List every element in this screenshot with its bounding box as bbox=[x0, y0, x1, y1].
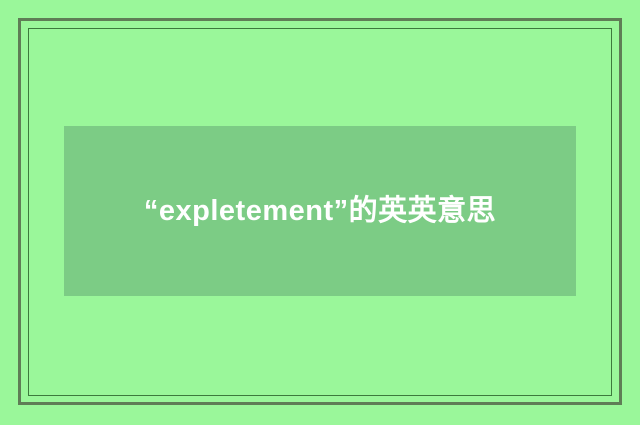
page-canvas: “expletement”的英英意思 bbox=[0, 0, 640, 425]
page-title: “expletement”的英英意思 bbox=[64, 183, 576, 240]
headline-panel: “expletement”的英英意思 bbox=[64, 126, 576, 296]
